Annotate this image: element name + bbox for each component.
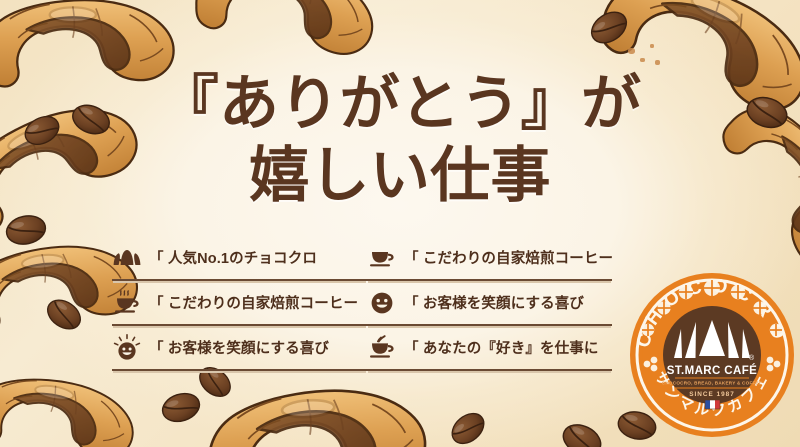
list-item-label: 「 こだわりの自家焙煎コーヒー xyxy=(149,292,358,313)
list-item-label: 「 お客様を笑顔にする喜び xyxy=(404,292,584,313)
st-marc-cafe-logo: CHOCOCRO xyxy=(629,272,795,438)
poster-canvas: 『ありがとう』が 嬉しい仕事 「 人気No.1のチョコクロ xyxy=(0,0,800,447)
list-item-label: 「 あなたの『好き』を仕事に xyxy=(404,337,599,358)
logo-registered-mark: ® xyxy=(749,354,755,362)
coffee-cup-icon xyxy=(367,243,397,273)
coffee-cup-steam-icon xyxy=(367,333,397,363)
list-item-label: 「 こだわりの自家焙煎コーヒー xyxy=(404,247,613,268)
coffee-cup-steam-icon xyxy=(112,288,142,318)
french-flag-icon xyxy=(705,400,720,409)
list-item: 「 こだわりの自家焙煎コーヒー xyxy=(112,281,367,326)
smiley-icon xyxy=(367,288,397,318)
list-item-label: 「 人気No.1のチョコクロ xyxy=(149,247,317,268)
smiley-rays-icon xyxy=(112,333,142,363)
headline-line-1: 『ありがとう』が xyxy=(0,72,800,136)
page-title: 『ありがとう』が 嬉しい仕事 xyxy=(0,72,800,207)
list-item: 「 あなたの『好き』を仕事に xyxy=(367,326,612,371)
list-item: 「 お客様を笑顔にする喜び xyxy=(367,281,612,326)
feature-lists: 「 人気No.1のチョコクロ 「 こだわりの自家焙煎コーヒー xyxy=(112,236,612,371)
list-item-label: 「 お客様を笑顔にする喜び xyxy=(149,337,329,358)
list-item: 「 人気No.1のチョコクロ xyxy=(112,236,367,281)
croissant-icon xyxy=(112,243,142,273)
logo-brand-name: ST.MARC CAFÉ xyxy=(667,364,757,377)
poster-content: 『ありがとう』が 嬉しい仕事 「 人気No.1のチョコクロ xyxy=(0,0,800,447)
logo-since-text: SINCE 1987 xyxy=(689,391,735,398)
logo-tagline: CHOCOCRO, BREAD, BAKERY & COFFEE xyxy=(662,381,762,386)
headline-line-2: 嬉しい仕事 xyxy=(0,144,800,208)
list-item: 「 お客様を笑顔にする喜び xyxy=(112,326,367,371)
list-item: 「 こだわりの自家焙煎コーヒー xyxy=(367,236,612,281)
